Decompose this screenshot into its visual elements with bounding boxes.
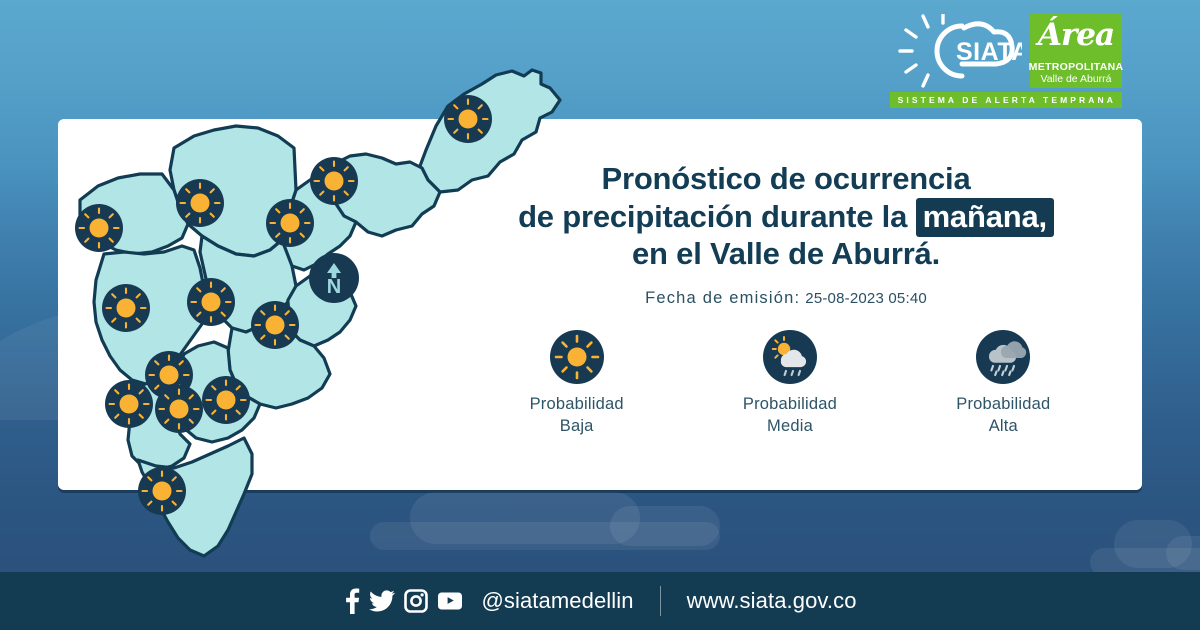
title-line-1: Pronóstico de ocurrencia xyxy=(430,160,1142,198)
legend-item-baja: Probabilidad Baja xyxy=(482,330,672,438)
map-marker-copacabana[interactable] xyxy=(266,199,314,247)
issue-date-label: Fecha de emisión: xyxy=(645,289,800,307)
compass-label: N xyxy=(327,276,341,298)
title-line-2-text: de precipitación durante la xyxy=(518,199,907,234)
map-marker-barbosa[interactable] xyxy=(444,95,492,143)
siata-tagline: SISTEMA DE ALERTA TEMPRANA xyxy=(890,92,1122,108)
map-marker-caldas[interactable] xyxy=(138,467,186,515)
map-marker-la-estrella[interactable] xyxy=(202,376,250,424)
area-script-text: Área xyxy=(1030,17,1122,53)
website-url[interactable]: www.siata.gov.co xyxy=(687,588,857,614)
facebook-icon[interactable] xyxy=(343,588,360,614)
title-highlight-manana: mañana, xyxy=(916,198,1054,237)
legend-baja-line1: Probabilidad xyxy=(530,395,624,413)
siata-wordmark: SIATA xyxy=(956,38,1022,66)
map-marker-sabaneta[interactable] xyxy=(155,385,203,433)
background-cloud-right xyxy=(1090,520,1200,576)
siata-logo: SIATA xyxy=(898,14,1022,88)
sun-rain-cloud-icon xyxy=(763,330,817,384)
infographic-canvas: SIATA Área METROPOLITANA Valle de Aburrá… xyxy=(0,0,1200,630)
legend-label-baja: Probabilidad Baja xyxy=(530,394,624,438)
page-title: Pronóstico de ocurrencia de precipitació… xyxy=(430,160,1142,273)
area-metropolitana-logo: Área METROPOLITANA Valle de Aburrá xyxy=(1030,14,1122,88)
youtube-icon[interactable] xyxy=(437,591,463,611)
area-line2: Valle de Aburrá xyxy=(1040,73,1111,85)
map-marker-girardota[interactable] xyxy=(310,157,358,205)
legend-media-line1: Probabilidad xyxy=(743,395,837,413)
twitter-icon[interactable] xyxy=(369,590,395,612)
probability-legend: Probabilidad Baja xyxy=(470,330,1110,438)
map-marker-itagui[interactable] xyxy=(105,380,153,428)
legend-alta-line2: Alta xyxy=(989,417,1018,435)
legend-item-media: Probabilidad Media xyxy=(695,330,885,438)
legend-alta-line1: Probabilidad xyxy=(956,395,1050,413)
north-arrow-icon: N xyxy=(309,253,359,303)
social-handle[interactable]: @siatamedellin xyxy=(481,588,633,614)
logo-group: SIATA Área METROPOLITANA Valle de Aburrá xyxy=(898,14,1122,88)
map-marker-san-pedro[interactable] xyxy=(176,179,224,227)
social-icon-group xyxy=(343,588,463,614)
issue-date-value: 25-08-2023 05:40 xyxy=(805,290,927,307)
legend-baja-line2: Baja xyxy=(560,417,594,435)
legend-media-line2: Media xyxy=(767,417,813,435)
instagram-icon[interactable] xyxy=(404,589,428,613)
sun-icon xyxy=(550,330,604,384)
map-marker-guarne[interactable] xyxy=(251,301,299,349)
map-marker-bello[interactable] xyxy=(187,278,235,326)
headline-panel: Pronóstico de ocurrencia de precipitació… xyxy=(430,160,1142,308)
legend-label-alta: Probabilidad Alta xyxy=(956,394,1050,438)
issue-date-row: Fecha de emisión: 25-08-2023 05:40 xyxy=(430,289,1142,308)
footer-divider xyxy=(660,586,661,616)
legend-label-media: Probabilidad Media xyxy=(743,394,837,438)
map-marker-medellin[interactable] xyxy=(102,284,150,332)
title-line-3: en el Valle de Aburrá. xyxy=(430,235,1142,273)
footer-bar: @siatamedellin www.siata.gov.co xyxy=(0,572,1200,630)
map-marker-san-jeronimo[interactable] xyxy=(75,204,123,252)
rain-cloud-icon xyxy=(976,330,1030,384)
title-line-2: de precipitación durante la mañana, xyxy=(430,198,1142,236)
area-line1: METROPOLITANA xyxy=(1029,61,1124,73)
legend-item-alta: Probabilidad Alta xyxy=(908,330,1098,438)
